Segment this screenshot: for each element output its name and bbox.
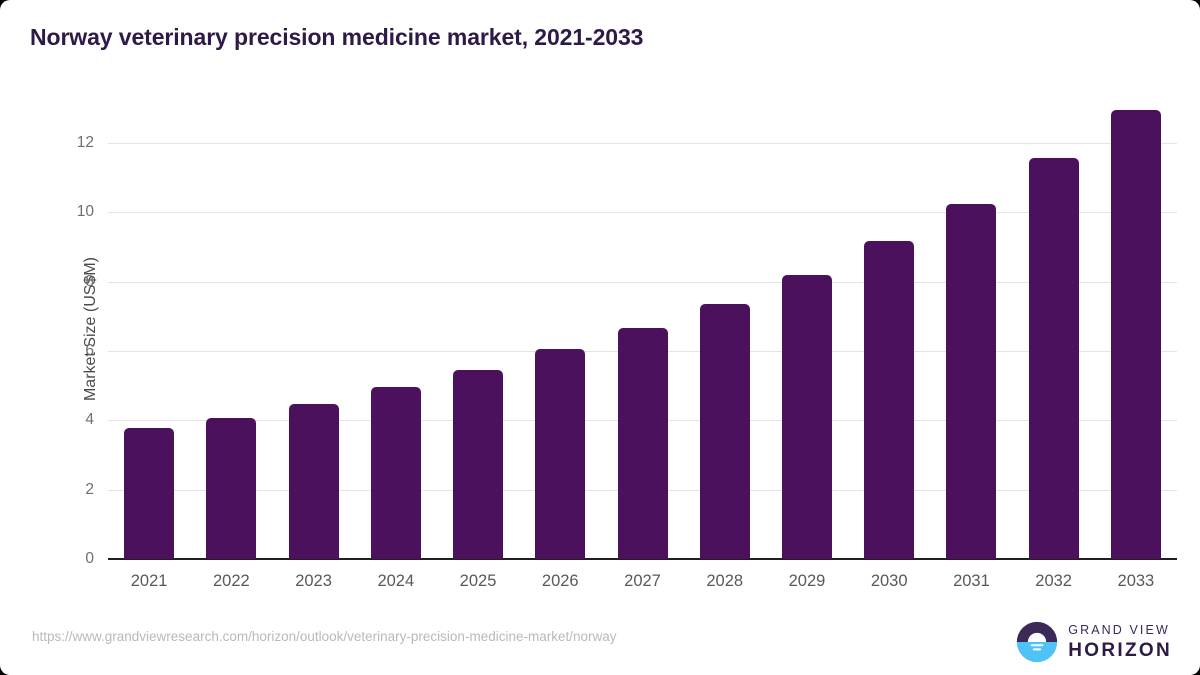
x-tick-label: 2031 <box>926 572 1016 591</box>
bar[interactable] <box>1111 110 1161 559</box>
brand-logo: GRAND VIEW HORIZON <box>1015 620 1172 664</box>
bar[interactable] <box>864 241 914 559</box>
bar[interactable] <box>782 275 832 559</box>
chart-canvas: Market Size (US$M) 024681012 20212022202… <box>0 0 1200 675</box>
logo-wordmark: GRAND VIEW HORIZON <box>1068 624 1172 660</box>
bar[interactable] <box>289 404 339 559</box>
y-tick-label: 12 <box>34 134 94 152</box>
logo-top-text: GRAND VIEW <box>1068 624 1172 637</box>
x-tick-label: 2033 <box>1091 572 1181 591</box>
y-tick-label: 6 <box>34 342 94 360</box>
bar[interactable] <box>618 328 668 559</box>
y-tick-label: 2 <box>34 481 94 499</box>
bar[interactable] <box>124 428 174 559</box>
y-tick-label: 10 <box>34 203 94 221</box>
x-tick-label: 2026 <box>515 572 605 591</box>
horizon-logo-icon <box>1015 620 1059 664</box>
x-tick-label: 2023 <box>269 572 359 591</box>
x-tick-label: 2032 <box>1009 572 1099 591</box>
x-tick-label: 2021 <box>104 572 194 591</box>
x-tick-label: 2024 <box>351 572 441 591</box>
logo-bottom-text: HORIZON <box>1068 641 1172 660</box>
bar[interactable] <box>535 349 585 559</box>
y-tick-label: 0 <box>34 550 94 568</box>
x-tick-label: 2027 <box>598 572 688 591</box>
bar-series <box>108 99 1177 559</box>
source-url[interactable]: https://www.grandviewresearch.com/horizo… <box>32 629 617 644</box>
bar[interactable] <box>700 304 750 559</box>
y-tick-label: 8 <box>34 273 94 291</box>
x-tick-label: 2030 <box>844 572 934 591</box>
x-tick-label: 2029 <box>762 572 852 591</box>
bar[interactable] <box>206 418 256 559</box>
chart-card: Norway veterinary precision medicine mar… <box>0 0 1200 675</box>
bar[interactable] <box>1029 158 1079 559</box>
bar[interactable] <box>453 370 503 559</box>
bar[interactable] <box>946 204 996 559</box>
x-tick-label: 2022 <box>186 572 276 591</box>
plot-area: Market Size (US$M) <box>108 99 1177 559</box>
y-tick-label: 4 <box>34 411 94 429</box>
x-tick-label: 2028 <box>680 572 770 591</box>
x-tick-label: 2025 <box>433 572 523 591</box>
bar[interactable] <box>371 387 421 559</box>
